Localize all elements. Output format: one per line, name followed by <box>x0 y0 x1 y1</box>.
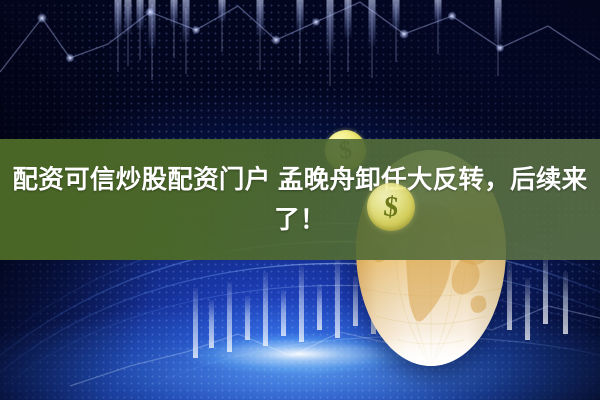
banner-image: $ 配资可信炒股配资门户 孟晚舟卸任大反转，后续来了！ $ <box>0 0 600 400</box>
page-title: 配资可信炒股配资门户 孟晚舟卸任大反转，后续来了！ <box>8 160 592 240</box>
dollar-sign-2: $ <box>382 190 400 224</box>
title-band: 配资可信炒股配资门户 孟晚舟卸任大反转，后续来了！ <box>0 139 600 260</box>
